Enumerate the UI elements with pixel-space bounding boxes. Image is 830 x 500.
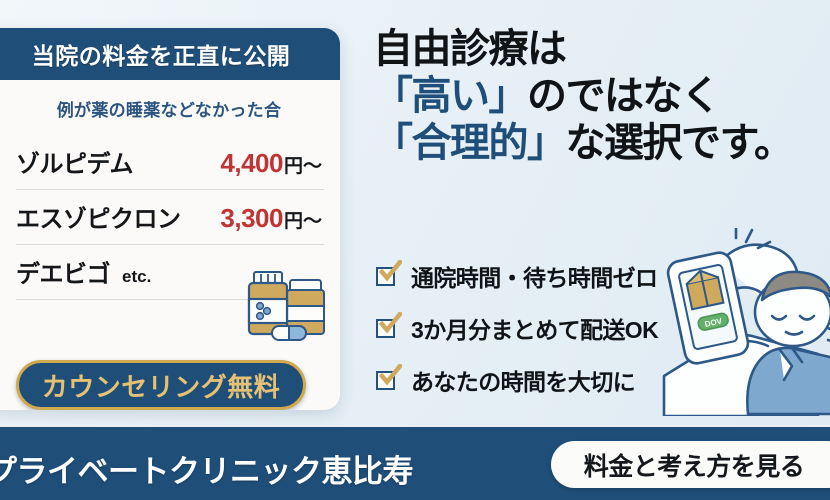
price-row: エスゾピクロン 3,300 円～ <box>16 190 324 245</box>
benefits-checklist: 通院時間・待ち時間ゼロ 3か月分まとめて配送OK あなたの時間を大切に <box>376 250 658 406</box>
checklist-item-label: 通院時間・待ち時間ゼロ <box>411 259 657 293</box>
checklist-item-label: 3か月分まとめて配送OK <box>411 311 658 345</box>
headline-quote-rational: 「合理的」 <box>373 121 566 165</box>
drug-name: エスゾピクロン <box>16 199 181 234</box>
price-etc-label: etc. <box>122 267 151 287</box>
price-card: 当院の料金を正直に公開 例が薬の睡薬などなかった合 ゾルピデム 4,400 円～… <box>0 28 340 410</box>
price-unit: 円～ <box>284 206 322 233</box>
drug-name: ゾルピデム <box>16 144 133 179</box>
checkbox-checked-icon <box>376 369 398 391</box>
price-row: ゾルピデム 4,400 円～ <box>16 135 324 190</box>
checklist-item-label: あなたの時間を大切に <box>411 363 635 397</box>
checkbox-checked-icon <box>376 265 398 287</box>
free-counseling-label: カウンセリング無料 <box>42 367 281 404</box>
price-card-subtitle: 例が薬の睡薬などなかった合 <box>0 96 340 121</box>
price-value: 3,300 <box>220 203 283 234</box>
headline-line-2: 「高い」のではなく <box>373 73 823 120</box>
pill-bottles-icon <box>240 266 332 344</box>
view-pricing-label: 料金と考え方を見る <box>584 447 805 483</box>
headline-line-1: 自由診療は <box>373 26 823 73</box>
clinic-name: プライベートクリニック恵比寿 <box>0 446 413 491</box>
checklist-item: 3か月分まとめて配送OK <box>376 302 658 354</box>
advertisement-banner: 当院の料金を正直に公開 例が薬の睡薬などなかった合 ゾルピデム 4,400 円～… <box>0 0 830 500</box>
price-value: 4,400 <box>220 148 283 179</box>
headline-quote-expensive: 「高い」 <box>373 74 527 118</box>
bottom-bar: プライベートクリニック恵比寿 料金と考え方を見る <box>0 425 830 500</box>
sleeping-person-with-delivery-phone-illustration: DOV <box>662 228 830 416</box>
price-card-header: 当院の料金を正直に公開 <box>0 28 340 80</box>
checkbox-checked-icon <box>376 317 398 339</box>
view-pricing-button[interactable]: 料金と考え方を見る <box>551 441 830 488</box>
checklist-item: あなたの時間を大切に <box>376 354 658 406</box>
headline-line-2-rest: のではなく <box>527 74 720 118</box>
headline-line-3-rest: な選択です。 <box>566 121 793 165</box>
price-card-header-title: 当院の料金を正直に公開 <box>32 37 291 71</box>
price-amount: 4,400 円～ <box>220 148 322 179</box>
drug-name: デエビゴ <box>16 254 110 289</box>
price-unit: 円～ <box>284 151 322 178</box>
headline: 自由診療は 「高い」のではなく 「合理的」な選択です。 <box>373 26 823 168</box>
headline-line-3: 「合理的」な選択です。 <box>373 120 823 167</box>
price-amount: 3,300 円～ <box>220 203 322 234</box>
free-counseling-button[interactable]: カウンセリング無料 <box>16 360 306 410</box>
headline-gold-underline <box>374 219 579 230</box>
checklist-item: 通院時間・待ち時間ゼロ <box>376 250 658 302</box>
